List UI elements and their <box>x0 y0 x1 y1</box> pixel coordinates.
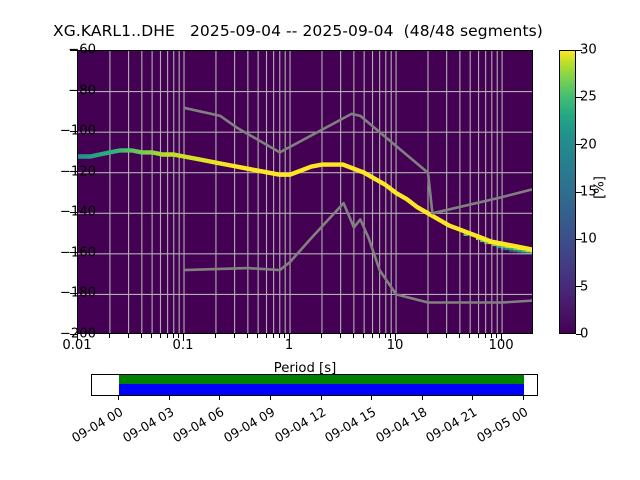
y-tick-label: −60 <box>36 43 96 58</box>
y-tick-label: −160 <box>36 245 96 260</box>
x-minor-tick <box>167 334 168 338</box>
x-minor-tick <box>257 334 258 338</box>
x-minor-tick <box>321 334 322 338</box>
plot-gridlines <box>78 51 533 334</box>
x-tick-mark <box>501 334 502 341</box>
x-minor-tick <box>234 334 235 338</box>
time-tick-mark <box>371 396 372 400</box>
colorbar-tick-mark <box>576 50 582 51</box>
time-tick-mark <box>118 396 119 400</box>
noise-model-line <box>184 108 533 214</box>
x-minor-tick <box>215 334 216 338</box>
colorbar-label: [%] <box>593 148 608 228</box>
x-minor-tick <box>390 334 391 338</box>
y-tick-label: −140 <box>36 205 96 220</box>
x-minor-tick <box>478 334 479 338</box>
x-minor-tick <box>160 334 161 338</box>
x-minor-tick <box>385 334 386 338</box>
x-minor-tick <box>379 334 380 338</box>
y-tick-mark <box>70 293 77 294</box>
x-minor-tick <box>178 334 179 338</box>
y-tick-mark <box>70 212 77 213</box>
time-tick-label: 09-04 12 <box>267 404 328 448</box>
x-tick-mark <box>183 334 184 341</box>
x-minor-tick <box>372 334 373 338</box>
time-tick-mark <box>422 396 423 400</box>
time-tick-mark <box>472 396 473 400</box>
colorbar-tick-mark <box>576 334 582 335</box>
x-minor-tick <box>279 334 280 338</box>
y-tick-label: −80 <box>36 83 96 98</box>
time-tick-label: 09-04 06 <box>166 404 227 448</box>
y-tick-label: −120 <box>36 164 96 179</box>
colorbar-tick-label: 25 <box>580 90 597 105</box>
x-minor-tick <box>459 334 460 338</box>
data-coverage-bar[interactable] <box>91 374 538 396</box>
time-tick-label: 09-04 00 <box>64 404 125 448</box>
time-tick-label: 09-04 21 <box>419 404 480 448</box>
x-minor-tick <box>109 334 110 338</box>
x-minor-tick <box>427 334 428 338</box>
x-minor-tick <box>469 334 470 338</box>
time-tick-mark <box>523 396 524 400</box>
x-minor-tick <box>128 334 129 338</box>
coverage-svg <box>92 375 537 395</box>
ppsd-plot-svg <box>78 51 533 334</box>
noise-model-line <box>184 203 533 302</box>
y-tick-label: −100 <box>36 124 96 139</box>
ppsd-plot-area[interactable] <box>77 50 533 334</box>
y-tick-label: −180 <box>36 286 96 301</box>
time-tick-label: 09-04 09 <box>216 404 277 448</box>
x-minor-tick <box>247 334 248 338</box>
x-minor-tick <box>141 334 142 338</box>
peterson-noise-models <box>184 108 533 303</box>
colorbar-tick-mark <box>576 286 582 287</box>
x-minor-tick <box>446 334 447 338</box>
x-tick-mark <box>395 334 396 341</box>
x-tick-mark <box>289 334 290 341</box>
colorbar-tick-mark <box>576 97 582 98</box>
time-tick-label: 09-04 15 <box>317 404 378 448</box>
colorbar-tick-label: 30 <box>580 43 597 58</box>
x-minor-tick <box>491 334 492 338</box>
colorbar-tick-label: 10 <box>580 232 597 247</box>
coverage-segment-blue <box>119 384 524 395</box>
colorbar-tick-mark <box>576 239 582 240</box>
time-tick-label: 09-04 03 <box>115 404 176 448</box>
x-minor-tick <box>266 334 267 338</box>
y-tick-mark <box>70 252 77 253</box>
x-minor-tick <box>353 334 354 338</box>
x-minor-tick <box>496 334 497 338</box>
colorbar-tick-mark <box>576 192 582 193</box>
y-tick-mark <box>70 131 77 132</box>
time-tick-label: 09-04 18 <box>368 404 429 448</box>
y-tick-mark <box>70 50 77 51</box>
page-title: XG.KARL1..DHE 2025-09-04 -- 2025-09-04 (… <box>0 22 596 40</box>
x-minor-tick <box>173 334 174 338</box>
time-tick-mark <box>321 396 322 400</box>
y-tick-mark <box>70 171 77 172</box>
time-tick-label: 09-05 00 <box>469 404 530 448</box>
x-minor-tick <box>485 334 486 338</box>
colorbar-tick-mark <box>576 144 582 145</box>
coverage-segment-green <box>119 375 524 384</box>
x-minor-tick <box>151 334 152 338</box>
x-minor-tick <box>273 334 274 338</box>
x-tick-mark <box>77 334 78 341</box>
time-tick-mark <box>169 396 170 400</box>
x-minor-tick <box>284 334 285 338</box>
x-minor-tick <box>363 334 364 338</box>
y-tick-mark <box>70 90 77 91</box>
colorbar <box>559 50 576 334</box>
time-tick-mark <box>270 396 271 400</box>
ppsd-figure: XG.KARL1..DHE 2025-09-04 -- 2025-09-04 (… <box>0 0 640 480</box>
x-minor-tick <box>340 334 341 338</box>
time-tick-mark <box>219 396 220 400</box>
